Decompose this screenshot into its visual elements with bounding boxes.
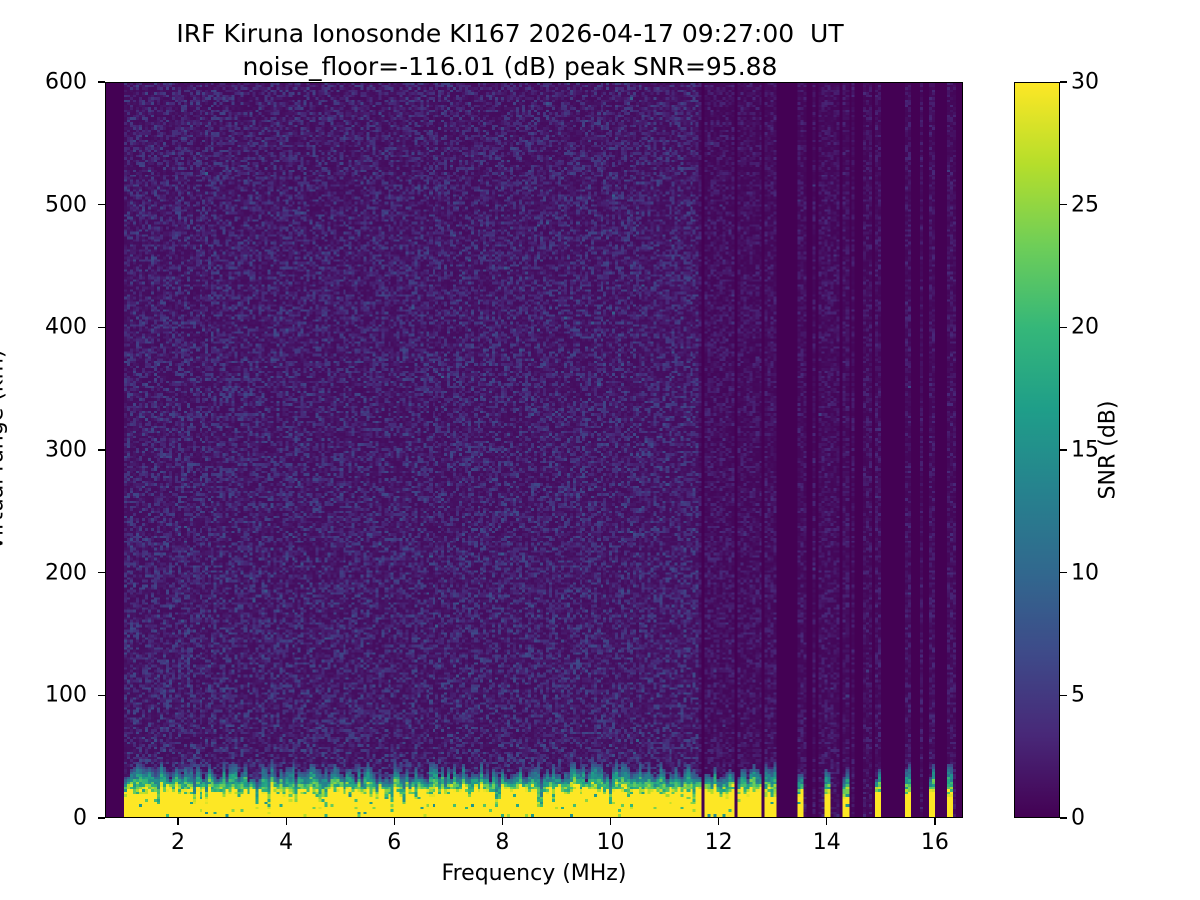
x-tick-label: 12 [684, 830, 754, 855]
y-tick-label: 0 [0, 806, 87, 831]
figure-title: IRF Kiruna Ionosonde KI167 2026-04-17 09… [0, 18, 1020, 83]
x-tick-label: 10 [576, 830, 646, 855]
colorbar-tick-mark [1060, 817, 1067, 818]
colorbar-tick-label: 25 [1071, 192, 1141, 217]
colorbar-gradient [1015, 83, 1059, 817]
x-tick-label: 8 [467, 830, 537, 855]
y-tick-mark [98, 327, 105, 328]
colorbar[interactable] [1014, 82, 1060, 818]
x-tick-mark [934, 818, 935, 825]
x-tick-mark [502, 818, 503, 825]
x-tick-mark [718, 818, 719, 825]
ionogram-heatmap-canvas [106, 83, 962, 817]
colorbar-tick-mark [1060, 572, 1067, 573]
x-tick-label: 6 [359, 830, 429, 855]
colorbar-tick-mark [1060, 327, 1067, 328]
colorbar-tick-mark [1060, 449, 1067, 450]
colorbar-tick-label: 0 [1071, 806, 1141, 831]
x-tick-label: 16 [900, 830, 970, 855]
x-tick-mark [394, 818, 395, 825]
ionogram-figure: IRF Kiruna Ionosonde KI167 2026-04-17 09… [0, 0, 1200, 900]
x-tick-mark [826, 818, 827, 825]
ionogram-plot-area[interactable] [105, 82, 963, 818]
y-tick-label: 400 [0, 315, 87, 340]
colorbar-tick-label: 20 [1071, 315, 1141, 340]
y-tick-label: 300 [0, 438, 87, 463]
colorbar-tick-label: 5 [1071, 683, 1141, 708]
colorbar-label: SNR (dB) [1096, 401, 1121, 500]
colorbar-tick-label: 30 [1071, 70, 1141, 95]
x-tick-label: 2 [143, 830, 213, 855]
colorbar-tick-mark [1060, 695, 1067, 696]
title-line-1: IRF Kiruna Ionosonde KI167 2026-04-17 09… [0, 18, 1020, 51]
y-tick-mark [98, 81, 105, 82]
x-tick-mark [177, 818, 178, 825]
y-tick-mark [98, 817, 105, 818]
y-tick-label: 100 [0, 683, 87, 708]
colorbar-tick-mark [1060, 81, 1067, 82]
y-tick-label: 600 [0, 70, 87, 95]
y-tick-mark [98, 695, 105, 696]
colorbar-tick-label: 10 [1071, 560, 1141, 585]
y-tick-label: 500 [0, 192, 87, 217]
colorbar-tick-mark [1060, 204, 1067, 205]
x-tick-mark [286, 818, 287, 825]
y-tick-mark [98, 572, 105, 573]
title-line-2: noise_floor=-116.01 (dB) peak SNR=95.88 [0, 51, 1020, 84]
y-axis-label: Virtual range (km) [0, 349, 9, 550]
x-tick-label: 4 [251, 830, 321, 855]
y-tick-mark [98, 204, 105, 205]
y-tick-label: 200 [0, 560, 87, 585]
y-tick-mark [98, 449, 105, 450]
x-axis-label: Frequency (MHz) [442, 861, 627, 886]
x-tick-mark [610, 818, 611, 825]
x-tick-label: 14 [792, 830, 862, 855]
